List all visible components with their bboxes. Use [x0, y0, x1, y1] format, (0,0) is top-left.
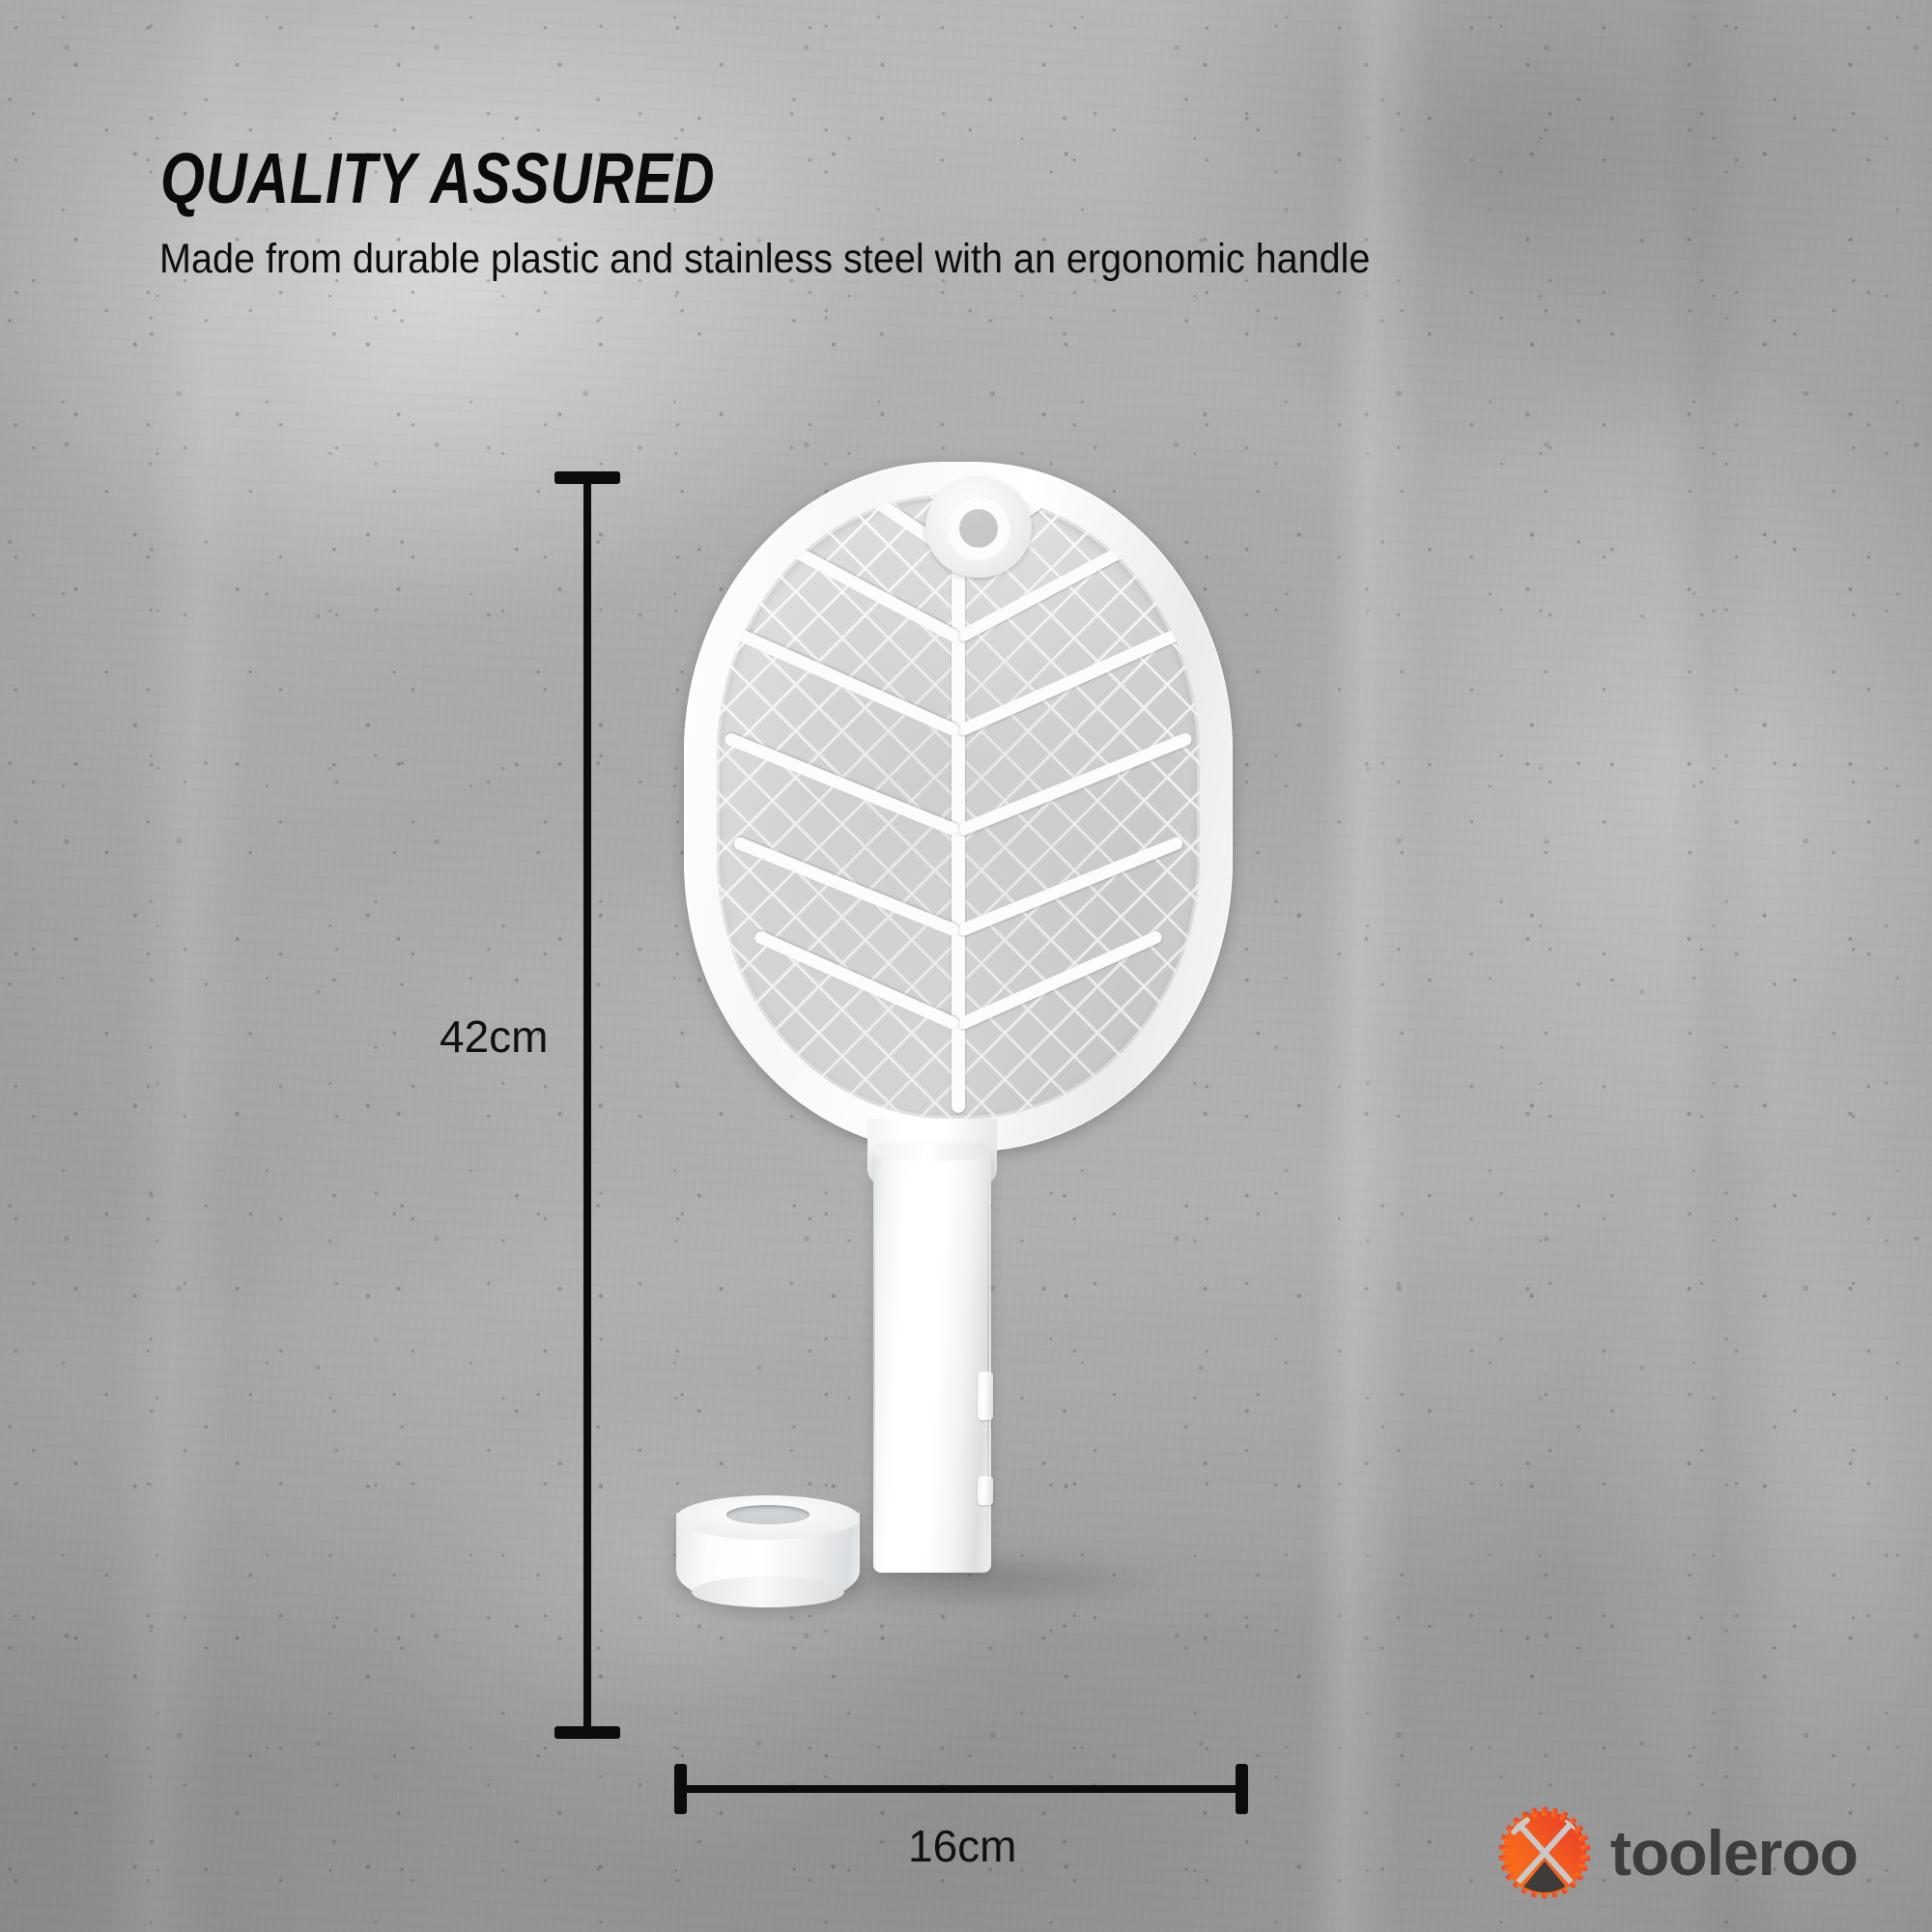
- page-title: QUALITY ASSURED: [160, 137, 715, 219]
- width-dimension-cap-right: [1236, 1764, 1248, 1814]
- brand-name: tooleroo: [1610, 1821, 1858, 1885]
- width-dimension-label: 16cm: [908, 1820, 1016, 1872]
- racket-mesh-area: [717, 495, 1200, 1119]
- leaf-vein-right-4: [956, 836, 1185, 938]
- leaf-vein-right-5: [955, 929, 1163, 1031]
- height-dimension-line: [583, 475, 591, 1737]
- width-dimension-line: [678, 1785, 1244, 1793]
- leaf-vein-right-3: [956, 731, 1194, 837]
- gear-with-crossed-tools-icon: [1492, 1801, 1597, 1905]
- leaf-vein-left-4: [732, 836, 961, 938]
- leaf-vein-pattern: [717, 495, 1200, 1119]
- charging-base-bottom: [692, 1577, 844, 1607]
- leaf-vein-left-3: [723, 731, 960, 837]
- leaf-vein-left-2: [726, 624, 961, 738]
- charging-base-socket-ring: [726, 1505, 810, 1524]
- racket-handle: [873, 1148, 991, 1573]
- height-dimension-label: 42cm: [440, 1010, 548, 1063]
- hanging-hole: [947, 497, 1010, 560]
- product-image-bug-zapper: [638, 425, 1294, 1604]
- leaf-vein-right-2: [955, 624, 1190, 738]
- racket-head-frame: [684, 462, 1233, 1151]
- handle-seam-left: [873, 1159, 875, 1565]
- height-dimension-cap-bottom: [554, 1726, 620, 1739]
- page-subtitle: Made from durable plastic and stainless …: [159, 236, 1370, 283]
- mode-switch-button: [978, 1476, 993, 1505]
- power-button: [978, 1372, 993, 1420]
- leaf-vein-left-5: [753, 929, 960, 1031]
- handle-top-cap: [873, 1144, 991, 1161]
- brand-logo: tooleroo: [1492, 1799, 1898, 1907]
